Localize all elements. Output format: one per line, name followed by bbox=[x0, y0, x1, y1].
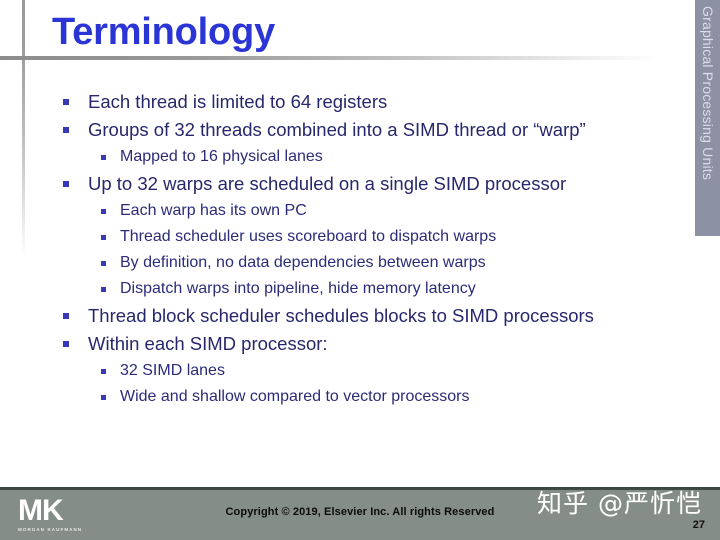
bullet-text: Each warp has its own PC bbox=[120, 198, 660, 224]
bullet-text: Up to 32 warps are scheduled on a single… bbox=[88, 170, 660, 198]
square-bullet-icon bbox=[101, 395, 106, 400]
logo-subtext: MORGAN KAUFMANN bbox=[18, 527, 88, 532]
page-title: Terminology bbox=[52, 8, 275, 56]
bullet-text: Each thread is limited to 64 registers bbox=[88, 88, 660, 116]
bullet-text: 32 SIMD lanes bbox=[120, 358, 660, 384]
square-bullet-icon bbox=[101, 209, 106, 214]
square-bullet-icon bbox=[63, 341, 69, 347]
square-bullet-icon bbox=[101, 155, 106, 160]
bullet-item-level2: Dispatch warps into pipeline, hide memor… bbox=[0, 276, 660, 302]
square-bullet-icon bbox=[101, 261, 106, 266]
bullet-list: Each thread is limited to 64 registersGr… bbox=[0, 88, 660, 410]
bullet-text: Wide and shallow compared to vector proc… bbox=[120, 384, 660, 410]
bullet-item-level1: Thread block scheduler schedules blocks … bbox=[0, 302, 660, 330]
bullet-text: Thread block scheduler schedules blocks … bbox=[88, 302, 660, 330]
bullet-item-level2: By definition, no data dependencies betw… bbox=[0, 250, 660, 276]
square-bullet-icon bbox=[101, 369, 106, 374]
watermark-text: 知乎 @严忻恺 bbox=[537, 484, 702, 520]
bullet-text: By definition, no data dependencies betw… bbox=[120, 250, 660, 276]
bullet-text: Mapped to 16 physical lanes bbox=[120, 144, 660, 170]
bullet-item-level2: Thread scheduler uses scoreboard to disp… bbox=[0, 224, 660, 250]
bullet-item-level1: Within each SIMD processor: bbox=[0, 330, 660, 358]
bullet-text: Dispatch warps into pipeline, hide memor… bbox=[120, 276, 660, 302]
bullet-item-level2: Wide and shallow compared to vector proc… bbox=[0, 384, 660, 410]
bullet-item-level2: Mapped to 16 physical lanes bbox=[0, 144, 660, 170]
bullet-text: Within each SIMD processor: bbox=[88, 330, 660, 358]
square-bullet-icon bbox=[63, 99, 69, 105]
section-tab-label: Graphical Processing Units bbox=[695, 0, 720, 236]
bullet-text: Groups of 32 threads combined into a SIM… bbox=[88, 116, 660, 144]
title-horizontal-rule bbox=[0, 56, 660, 60]
bullet-item-level1: Up to 32 warps are scheduled on a single… bbox=[0, 170, 660, 198]
slide-canvas: Terminology Each thread is limited to 64… bbox=[0, 0, 720, 540]
slide-page-number: 27 bbox=[693, 519, 705, 531]
square-bullet-icon bbox=[63, 313, 69, 319]
square-bullet-icon bbox=[101, 287, 106, 292]
section-tab: Graphical Processing Units bbox=[695, 0, 720, 236]
square-bullet-icon bbox=[101, 235, 106, 240]
bullet-item-level2: Each warp has its own PC bbox=[0, 198, 660, 224]
bullet-item-level2: 32 SIMD lanes bbox=[0, 358, 660, 384]
bullet-text: Thread scheduler uses scoreboard to disp… bbox=[120, 224, 660, 250]
square-bullet-icon bbox=[63, 181, 69, 187]
bullet-item-level1: Groups of 32 threads combined into a SIM… bbox=[0, 116, 660, 144]
bullet-item-level1: Each thread is limited to 64 registers bbox=[0, 88, 660, 116]
square-bullet-icon bbox=[63, 127, 69, 133]
